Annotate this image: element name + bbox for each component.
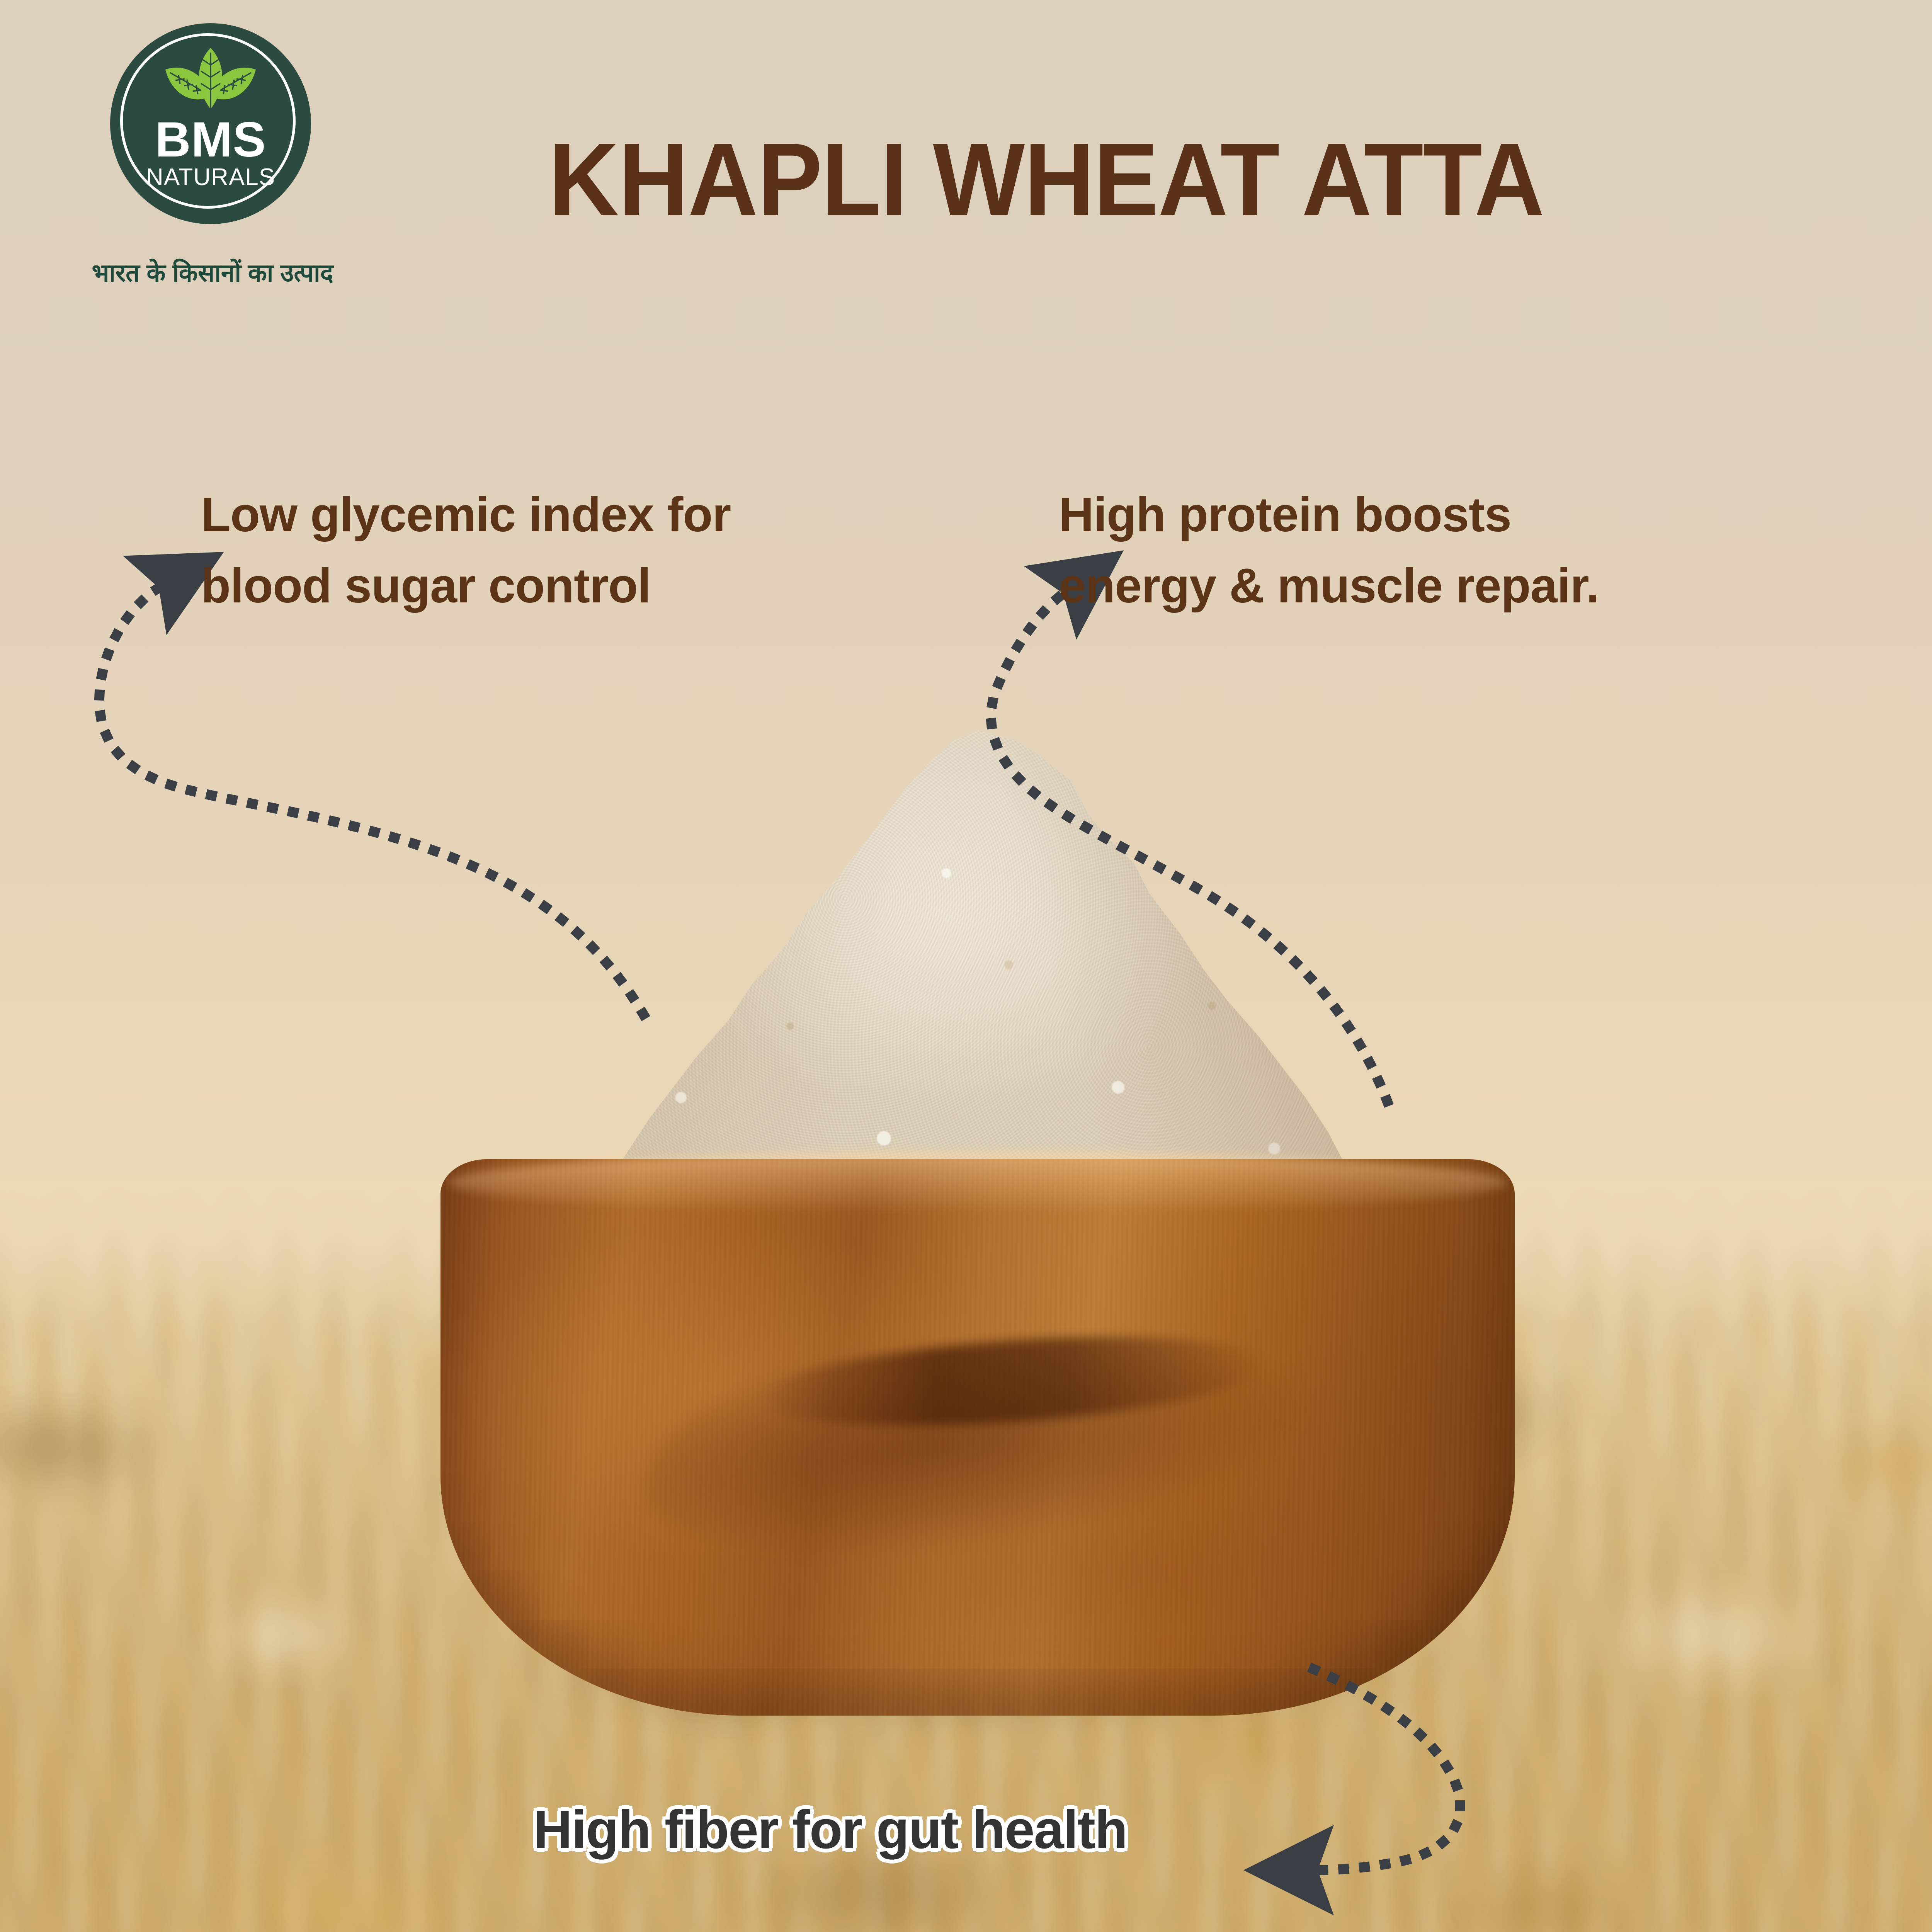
callout-left: Low glycemic index for blood sugar contr… — [201, 479, 935, 621]
callout-left-line1: Low glycemic index for — [201, 479, 935, 550]
logo-subtitle: NATURALS — [110, 165, 311, 189]
page-title: KHAPLI WHEAT ATTA — [549, 128, 1802, 231]
bowl-rim-highlight — [448, 1151, 1507, 1213]
callout-right: High protein boosts energy & muscle repa… — [1059, 479, 1851, 621]
product-image — [417, 730, 1538, 1758]
brand-logo: BMS NATURALS — [110, 23, 311, 224]
callout-bottom: High fiber for gut health — [533, 1803, 1345, 1857]
callout-right-line1: High protein boosts — [1059, 479, 1851, 550]
brand-tagline-hindi: भारत के किसानों का उत्पाद — [54, 255, 371, 289]
wooden-bowl — [440, 1159, 1515, 1716]
callout-left-line2: blood sugar control — [201, 550, 935, 621]
poster-canvas: BMS NATURALS भारत के किसानों का उत्पाद K… — [0, 0, 1932, 1932]
callout-right-line2: energy & muscle repair. — [1059, 550, 1851, 621]
logo-wordmark: BMS — [110, 115, 311, 165]
